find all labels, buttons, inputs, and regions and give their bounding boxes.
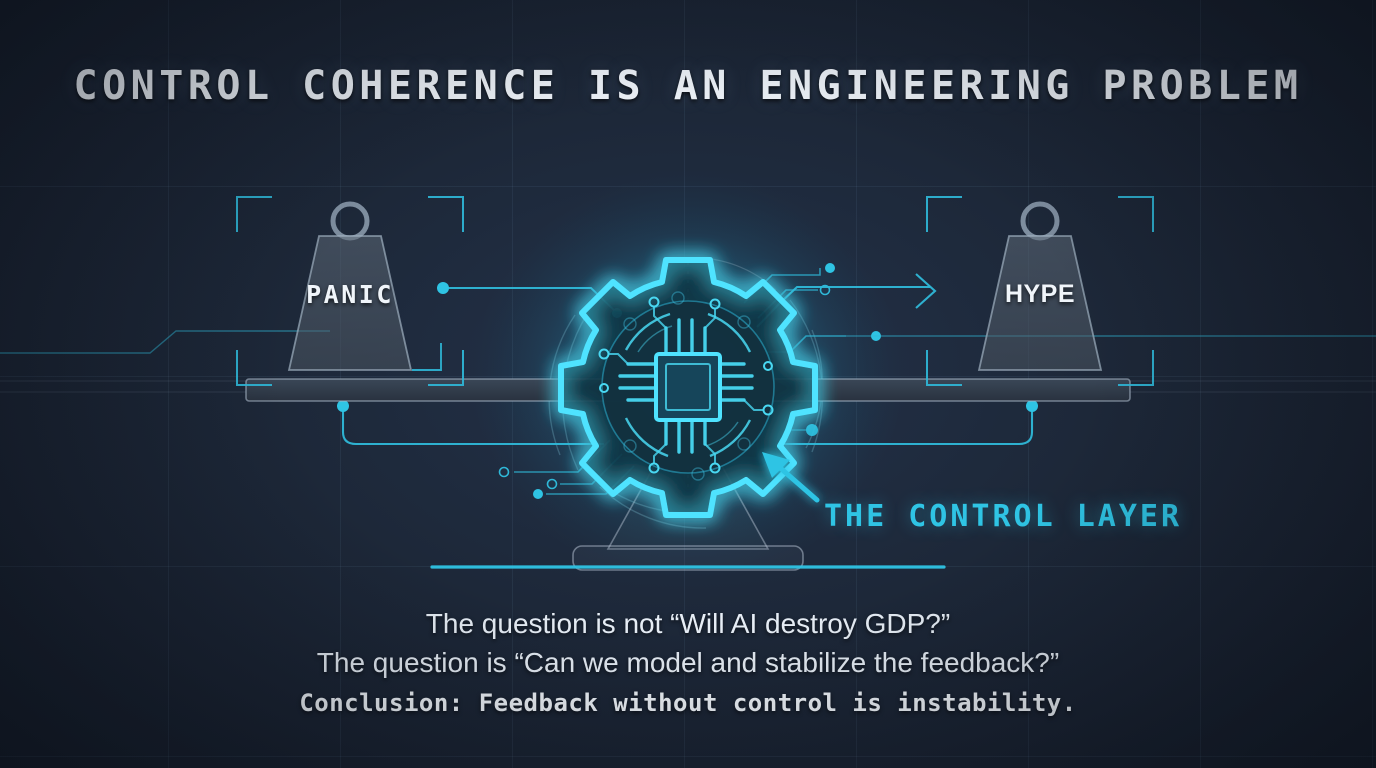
caption-line-1: The question is not “Will AI destroy GDP… [0,608,1376,640]
weight-panic[interactable]: PANIC [236,196,464,386]
control-layer-label: THE CONTROL LAYER [824,499,1182,534]
bracket-corner-bottom-right [1118,350,1154,386]
bracket-corner-bottom-left [926,350,962,386]
caption-line-3: Conclusion: Feedback without control is … [0,689,1376,717]
bracket-corner-bottom-right [428,350,464,386]
connector-node-beam-left [337,400,349,412]
connector-node-beam-right [1026,400,1038,412]
slide-canvas: CONTROL COHERENCE IS AN ENGINEERING PROB… [0,0,1376,768]
bracket-corner-top-left [926,196,962,232]
bracket-corner-top-left [236,196,272,232]
bracket-corner-top-right [428,196,464,232]
flow-arrow-to-hype [757,274,935,327]
bracket-corner-top-right [1118,196,1154,232]
bracket-corner-bottom-left [236,350,272,386]
page-title: CONTROL COHERENCE IS AN ENGINEERING PROB… [0,63,1376,109]
caption-line-2: The question is “Can we model and stabil… [0,647,1376,679]
weight-hype[interactable]: HYPE [926,196,1154,386]
